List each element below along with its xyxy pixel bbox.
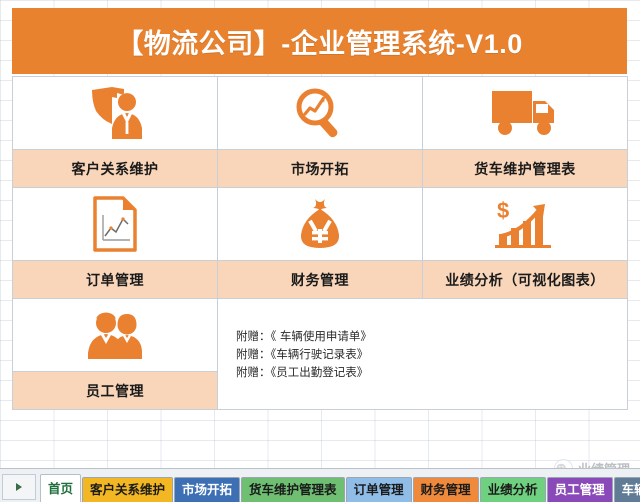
card-label-market-development[interactable]: 市场开拓 [218, 150, 423, 188]
card-icon-cell-truck-maintenance[interactable] [423, 77, 628, 150]
spreadsheet-canvas: 【物流公司】-企业管理系统-V1.0 [0, 0, 640, 468]
attachment-note-2: 附赠：《车辆行驶记录表》 [236, 345, 627, 363]
card-label-truck-maintenance[interactable]: 货车维护管理表 [423, 150, 628, 188]
page-title-banner: 【物流公司】-企业管理系统-V1.0 [12, 8, 627, 74]
sheet-tab-3[interactable]: 货车维护管理表 [241, 477, 345, 502]
card-label-finance-management[interactable]: 财务管理 [218, 261, 423, 299]
card-icon-cell-staff-management[interactable] [13, 299, 218, 372]
document-chart-icon [13, 188, 217, 260]
card-icon-cell-finance-management[interactable] [218, 188, 423, 261]
attachment-note-3: 附赠：《员工出勤登记表》 [236, 363, 627, 381]
card-label-row-2: 订单管理 财务管理 业绩分析（可视化图表） [13, 261, 628, 299]
card-label-customer-relations[interactable]: 客户关系维护 [13, 150, 218, 188]
attachment-notes-cell: 附赠：《 车辆使用申请单》 附赠：《车辆行驶记录表》 附赠：《员工出勤登记表》 [218, 299, 628, 410]
page-title: 【物流公司】-企业管理系统-V1.0 [116, 22, 523, 61]
module-card-grid: 客户关系维护 市场开拓 货车维护管理表 [12, 76, 628, 410]
growth-bar-chart-icon: $ [423, 188, 627, 260]
truck-icon [423, 77, 627, 149]
card-icon-cell-order-management[interactable] [13, 188, 218, 261]
tab-scroll-right-button[interactable] [2, 474, 36, 500]
card-label-performance-analysis[interactable]: 业绩分析（可视化图表） [423, 261, 628, 299]
card-icon-cell-customer-relations[interactable] [13, 77, 218, 150]
triangle-right-icon [16, 483, 22, 491]
attachment-notes-list: 附赠：《 车辆使用申请单》 附赠：《车辆行驶记录表》 附赠：《员工出勤登记表》 [218, 321, 627, 387]
card-icon-row-1 [13, 77, 628, 150]
sheet-tab-6[interactable]: 业绩分析 [480, 477, 546, 502]
sheet-tab-strip: 首页客户关系维护市场开拓货车维护管理表订单管理财务管理业绩分析员工管理车辆使 [40, 468, 640, 502]
svg-text:$: $ [497, 198, 509, 223]
sheet-tab-5[interactable]: 财务管理 [413, 477, 479, 502]
card-icon-row-3: 附赠：《 车辆使用申请单》 附赠：《车辆行驶记录表》 附赠：《员工出勤登记表》 [13, 299, 628, 372]
money-bag-yen-icon [218, 188, 422, 260]
sheet-tab-0[interactable]: 首页 [40, 474, 81, 502]
card-icon-cell-performance-analysis[interactable]: $ [423, 188, 628, 261]
sheet-tab-4[interactable]: 订单管理 [346, 477, 412, 502]
card-label-staff-management[interactable]: 员工管理 [13, 372, 218, 410]
sheet-tab-bar: 首页客户关系维护市场开拓货车维护管理表订单管理财务管理业绩分析员工管理车辆使 [0, 468, 640, 502]
sheet-tab-1[interactable]: 客户关系维护 [82, 477, 173, 502]
card-icon-row-2: $ [13, 188, 628, 261]
shield-person-icon [13, 77, 217, 149]
magnifier-trend-icon [218, 77, 422, 149]
sheet-tab-7[interactable]: 员工管理 [547, 477, 613, 502]
attachment-note-1: 附赠：《 车辆使用申请单》 [236, 327, 627, 345]
card-icon-cell-market-development[interactable] [218, 77, 423, 150]
sheet-tab-8[interactable]: 车辆使 [614, 477, 640, 502]
two-people-icon [13, 299, 217, 371]
card-label-row-1: 客户关系维护 市场开拓 货车维护管理表 [13, 150, 628, 188]
card-label-order-management[interactable]: 订单管理 [13, 261, 218, 299]
sheet-tab-2[interactable]: 市场开拓 [174, 477, 240, 502]
